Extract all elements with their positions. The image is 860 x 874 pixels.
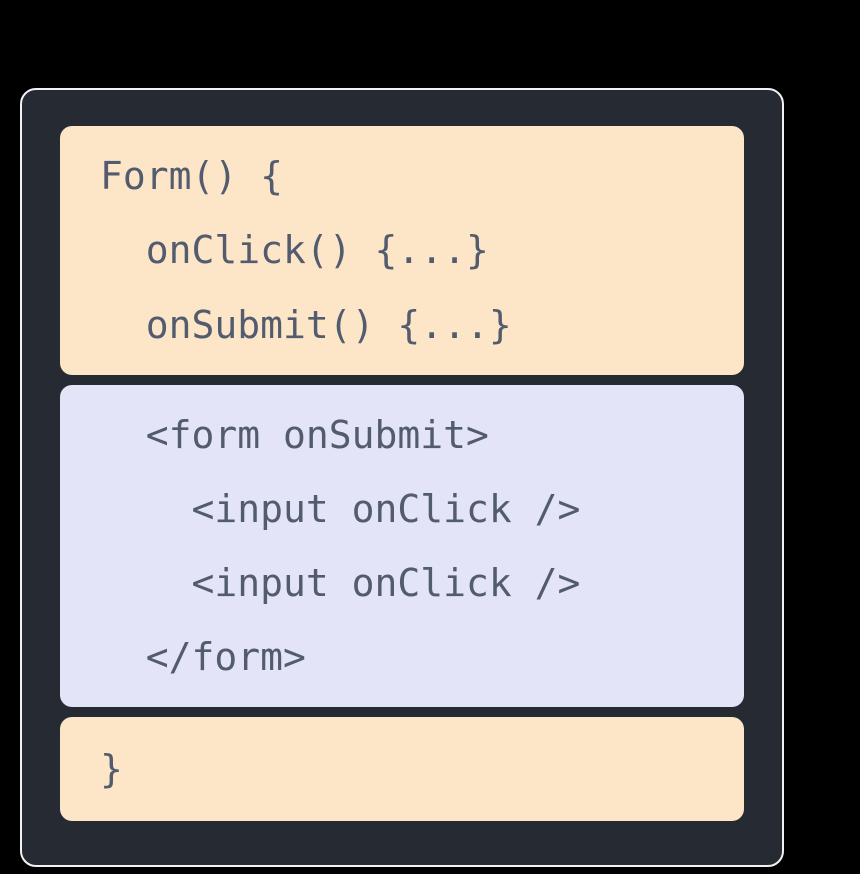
code-line: onSubmit() {...}: [100, 288, 714, 362]
code-line: onClick() {...}: [100, 213, 714, 287]
code-block-jsx-markup: <form onSubmit> <input onClick /> <input…: [60, 385, 744, 707]
code-card: Form() { onClick() {...} onSubmit() {...…: [20, 88, 784, 867]
code-line: }: [100, 739, 714, 800]
code-line: <form onSubmit>: [100, 398, 714, 472]
code-line: <input onClick />: [100, 472, 714, 546]
code-line: Form() {: [100, 139, 714, 213]
code-line: </form>: [100, 620, 714, 694]
code-block-component-close: }: [60, 717, 744, 821]
code-line: <input onClick />: [100, 546, 714, 620]
code-block-component-definition: Form() { onClick() {...} onSubmit() {...…: [60, 126, 744, 375]
diagram-stage: Form() { onClick() {...} onSubmit() {...…: [0, 0, 860, 874]
